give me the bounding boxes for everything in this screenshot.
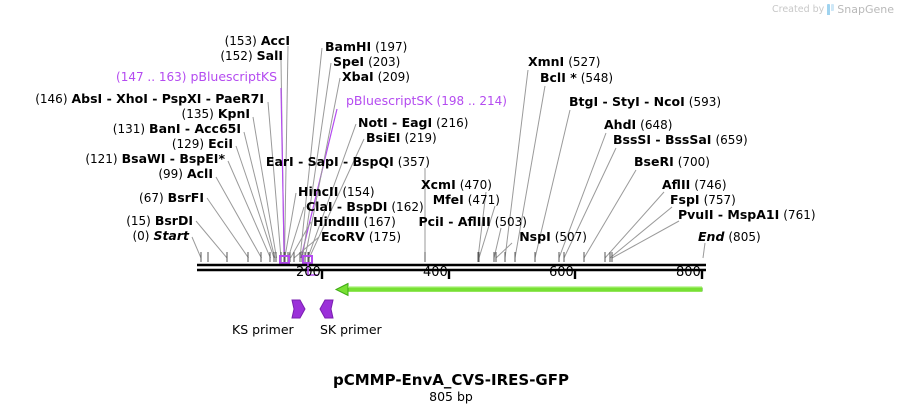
site-label-noti-eagi[interactable]: NotI - EagI (216) (358, 116, 468, 130)
site-label-ecii[interactable]: (129) EciI (0, 137, 233, 151)
feature-range: (198 .. 214) (437, 94, 507, 108)
site-label-sali[interactable]: (152) SalI (0, 49, 283, 63)
site-position: (0) (132, 229, 149, 243)
site-enzyme: NspI (519, 229, 551, 244)
site-position: (746) (694, 178, 726, 192)
site-label-bsrfi[interactable]: (67) BsrFI (0, 191, 204, 205)
site-label-aflii[interactable]: AflII (746) (662, 178, 727, 192)
site-position: (507) (555, 230, 587, 244)
site-enzyme: EciI (208, 136, 233, 151)
page-title: pCMMP-EnvA_CVS-IRES-GFP (0, 371, 902, 389)
site-position: (99) (158, 167, 183, 181)
site-position: (146) (35, 92, 67, 106)
site-position: (153) (225, 34, 257, 48)
feature-label-pbluescriptsk[interactable]: pBluescriptSK (198 .. 214) (346, 94, 507, 108)
ruler-tick-600: 600 (549, 265, 574, 280)
backbone (197, 265, 706, 270)
feature-name: pBluescriptKS (190, 69, 277, 84)
site-position: (131) (113, 122, 145, 136)
site-enzyme: Start (153, 228, 189, 243)
ruler-tick-400: 400 (423, 265, 448, 280)
site-enzyme: AhdI (604, 117, 636, 132)
site-enzyme: BclI * (540, 70, 577, 85)
feature-label-pbluescriptks[interactable]: (147 .. 163) pBluescriptKS (0, 70, 277, 84)
site-position: (135) (182, 107, 214, 121)
site-position: (757) (704, 193, 736, 207)
site-enzyme: AclI (187, 166, 213, 181)
site-label-absi-xhoi-pspxi-paer7i[interactable]: (146) AbsI - XhoI - PspXI - PaeR7I (0, 92, 264, 106)
site-label-bcli[interactable]: BclI * (548) (540, 71, 613, 85)
site-label-fspi[interactable]: FspI (757) (670, 193, 736, 207)
site-enzyme: SpeI (333, 54, 364, 69)
primer-label-ks: KS primer (232, 322, 294, 337)
site-enzyme: BamHI (325, 39, 371, 54)
site-enzyme: XcmI (421, 177, 456, 192)
site-label-bseri[interactable]: BseRI (700) (634, 155, 710, 169)
site-position: (129) (172, 137, 204, 151)
site-enzyme: BsrFI (168, 190, 204, 205)
site-enzyme: FspI (670, 192, 700, 207)
site-position: (470) (460, 178, 492, 192)
site-enzyme: XmnI (528, 54, 564, 69)
site-enzyme: PvuII - MspA1I (678, 207, 779, 222)
site-enzyme: BsrDI (155, 213, 193, 228)
site-position: (152) (220, 49, 252, 63)
site-position: (121) (85, 152, 117, 166)
site-ticks (201, 252, 612, 262)
site-label-eari-sapi-bspqi[interactable]: EarI - SapI - BspQI (357) (255, 155, 430, 169)
site-position: (659) (715, 133, 747, 147)
site-label-ecorv[interactable]: EcoRV (175) (321, 230, 401, 244)
ruler-tick-800: 800 (676, 265, 701, 280)
ks-primer-arrow[interactable] (292, 300, 305, 318)
site-enzyme: End (698, 229, 724, 244)
site-label-pvuii-mspa1i[interactable]: PvuII - MspA1I (761) (678, 208, 816, 222)
site-enzyme: EcoRV (321, 229, 365, 244)
site-enzyme: KpnI (218, 106, 250, 121)
site-enzyme: HincII (298, 184, 338, 199)
site-position: (805) (728, 230, 760, 244)
site-position: (503) (495, 215, 527, 229)
site-position: (197) (375, 40, 407, 54)
sk-primer-arrow[interactable] (320, 300, 333, 318)
site-label-end[interactable]: End (805) (698, 230, 761, 244)
feature-range: (147 .. 163) (116, 70, 186, 84)
site-position: (761) (783, 208, 815, 222)
plasmid-length: 805 bp (0, 389, 902, 404)
site-enzyme: SalI (257, 48, 283, 63)
site-enzyme: AflII (662, 177, 690, 192)
site-label-ahdi[interactable]: AhdI (648) (604, 118, 672, 132)
orf-arrow (336, 284, 702, 296)
site-enzyme: BssSI - BssSaI (613, 132, 711, 147)
site-label-bani-acc65i[interactable]: (131) BanI - Acc65I (0, 122, 241, 136)
site-label-xcmi[interactable]: XcmI (470) (350, 178, 492, 192)
site-position: (700) (678, 155, 710, 169)
site-enzyme: MfeI (433, 192, 464, 207)
site-enzyme: XbaI (342, 69, 374, 84)
site-position: (67) (139, 191, 164, 205)
site-enzyme: BseRI (634, 154, 674, 169)
site-enzyme: PciI - AflIII (418, 214, 490, 229)
site-position: (15) (126, 214, 151, 228)
site-enzyme: BanI - Acc65I (149, 121, 241, 136)
site-position: (593) (689, 95, 721, 109)
site-label-btgi-styi-ncoi[interactable]: BtgI - StyI - NcoI (593) (569, 95, 721, 109)
site-position: (471) (468, 193, 500, 207)
site-label-bamhi[interactable]: BamHI (197) (325, 40, 407, 54)
feature-name: pBluescriptSK (346, 93, 433, 108)
site-label-bsiei[interactable]: BsiEI (219) (366, 131, 437, 145)
site-enzyme: AbsI - XhoI - PspXI - PaeR7I (72, 91, 265, 106)
site-position: (216) (436, 116, 468, 130)
site-position: (548) (581, 71, 613, 85)
site-enzyme: AccI (261, 33, 290, 48)
site-enzyme: BtgI - StyI - NcoI (569, 94, 685, 109)
site-label-xbai[interactable]: XbaI (209) (342, 70, 410, 84)
site-label-start[interactable]: (0) Start (0, 229, 189, 243)
ruler-tick-200: 200 (296, 265, 321, 280)
site-label-bsawi-bspei[interactable]: (121) BsaWI - BspEI* (0, 152, 225, 166)
site-label-spei[interactable]: SpeI (203) (333, 55, 400, 69)
site-enzyme: BsaWI - BspEI* (122, 151, 225, 166)
site-enzyme: EarI - SapI - BspQI (266, 154, 394, 169)
ruler-ticks (322, 270, 702, 279)
site-enzyme: NotI - EagI (358, 115, 432, 130)
site-position: (175) (369, 230, 401, 244)
site-label-kpni[interactable]: (135) KpnI (0, 107, 250, 121)
site-position: (527) (568, 55, 600, 69)
site-position: (648) (640, 118, 672, 132)
site-label-acci[interactable]: (153) AccI (0, 34, 290, 48)
site-label-pcii-afliii[interactable]: PciI - AflIII (503) (350, 215, 527, 229)
site-label-xmni[interactable]: XmnI (527) (528, 55, 600, 69)
site-label-nspi[interactable]: NspI (507) (400, 230, 587, 244)
site-position: (203) (368, 55, 400, 69)
site-label-acli[interactable]: (99) AclI (0, 167, 213, 181)
site-position: (357) (398, 155, 430, 169)
primer-label-sk: SK primer (320, 322, 382, 337)
site-position: (209) (378, 70, 410, 84)
site-label-bsssi-bsssai[interactable]: BssSI - BssSaI (659) (613, 133, 748, 147)
site-position: (219) (404, 131, 436, 145)
site-label-bsrdi[interactable]: (15) BsrDI (0, 214, 193, 228)
site-label-mfei[interactable]: MfeI (471) (358, 193, 500, 207)
site-enzyme: BsiEI (366, 130, 400, 145)
